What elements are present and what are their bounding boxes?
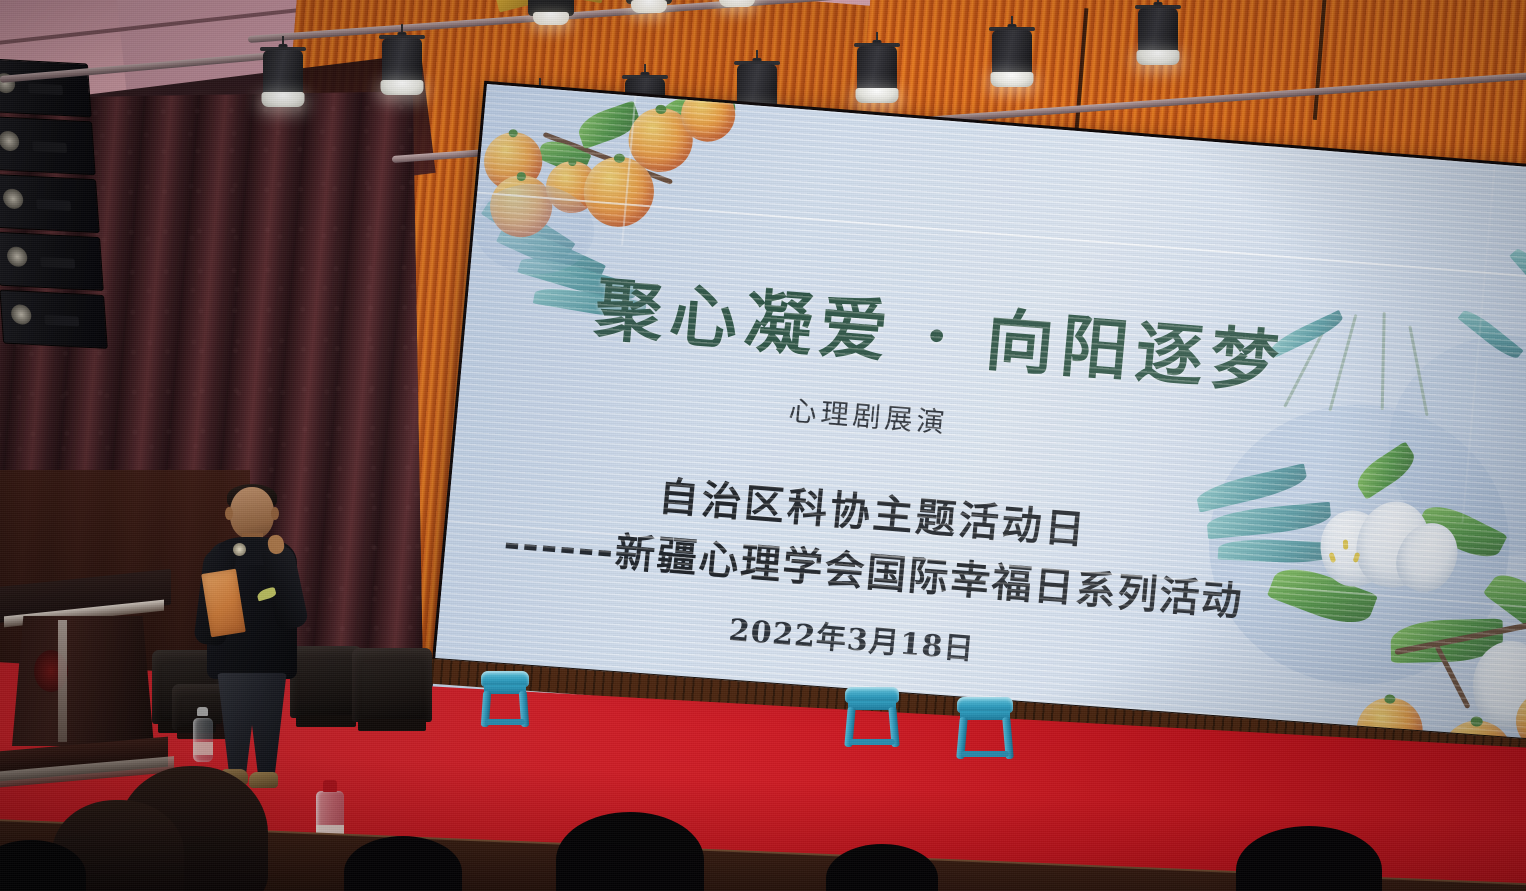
podium-stripe — [58, 620, 67, 742]
presenter-ear — [225, 507, 233, 520]
bottle-cap — [197, 707, 208, 716]
presenter-legs — [216, 673, 288, 773]
podium-body — [12, 616, 154, 746]
blue-plastic-stool — [957, 697, 1013, 761]
stool-rung — [961, 751, 1009, 757]
photo-scene: 聚心凝爱 · 向阳逐梦 心理剧展演 自治区科协主题活动日 ------新疆心理学… — [0, 0, 1526, 891]
slide-title: 聚心凝爱 · 向阳逐梦 — [591, 254, 1477, 422]
slide-date: 2022年3月18日 — [727, 605, 976, 668]
blue-plastic-stool — [481, 671, 529, 729]
stage-armchair — [352, 648, 432, 722]
presenter-ear — [271, 507, 279, 520]
stool-rung — [485, 719, 525, 725]
slide-subtitle: 心理剧展演 — [787, 389, 950, 442]
presenter — [197, 487, 305, 800]
water-bottle — [193, 718, 213, 762]
presenter-head — [230, 487, 274, 539]
blue-plastic-stool — [845, 687, 899, 749]
line-array-loudspeaker — [0, 56, 122, 364]
bottle-label — [193, 742, 213, 755]
presenter-shoe — [249, 772, 278, 788]
handheld-microphone — [233, 543, 246, 556]
bottle-cap — [323, 780, 337, 792]
stool-rung — [849, 739, 895, 745]
lectern-podium — [0, 578, 171, 793]
